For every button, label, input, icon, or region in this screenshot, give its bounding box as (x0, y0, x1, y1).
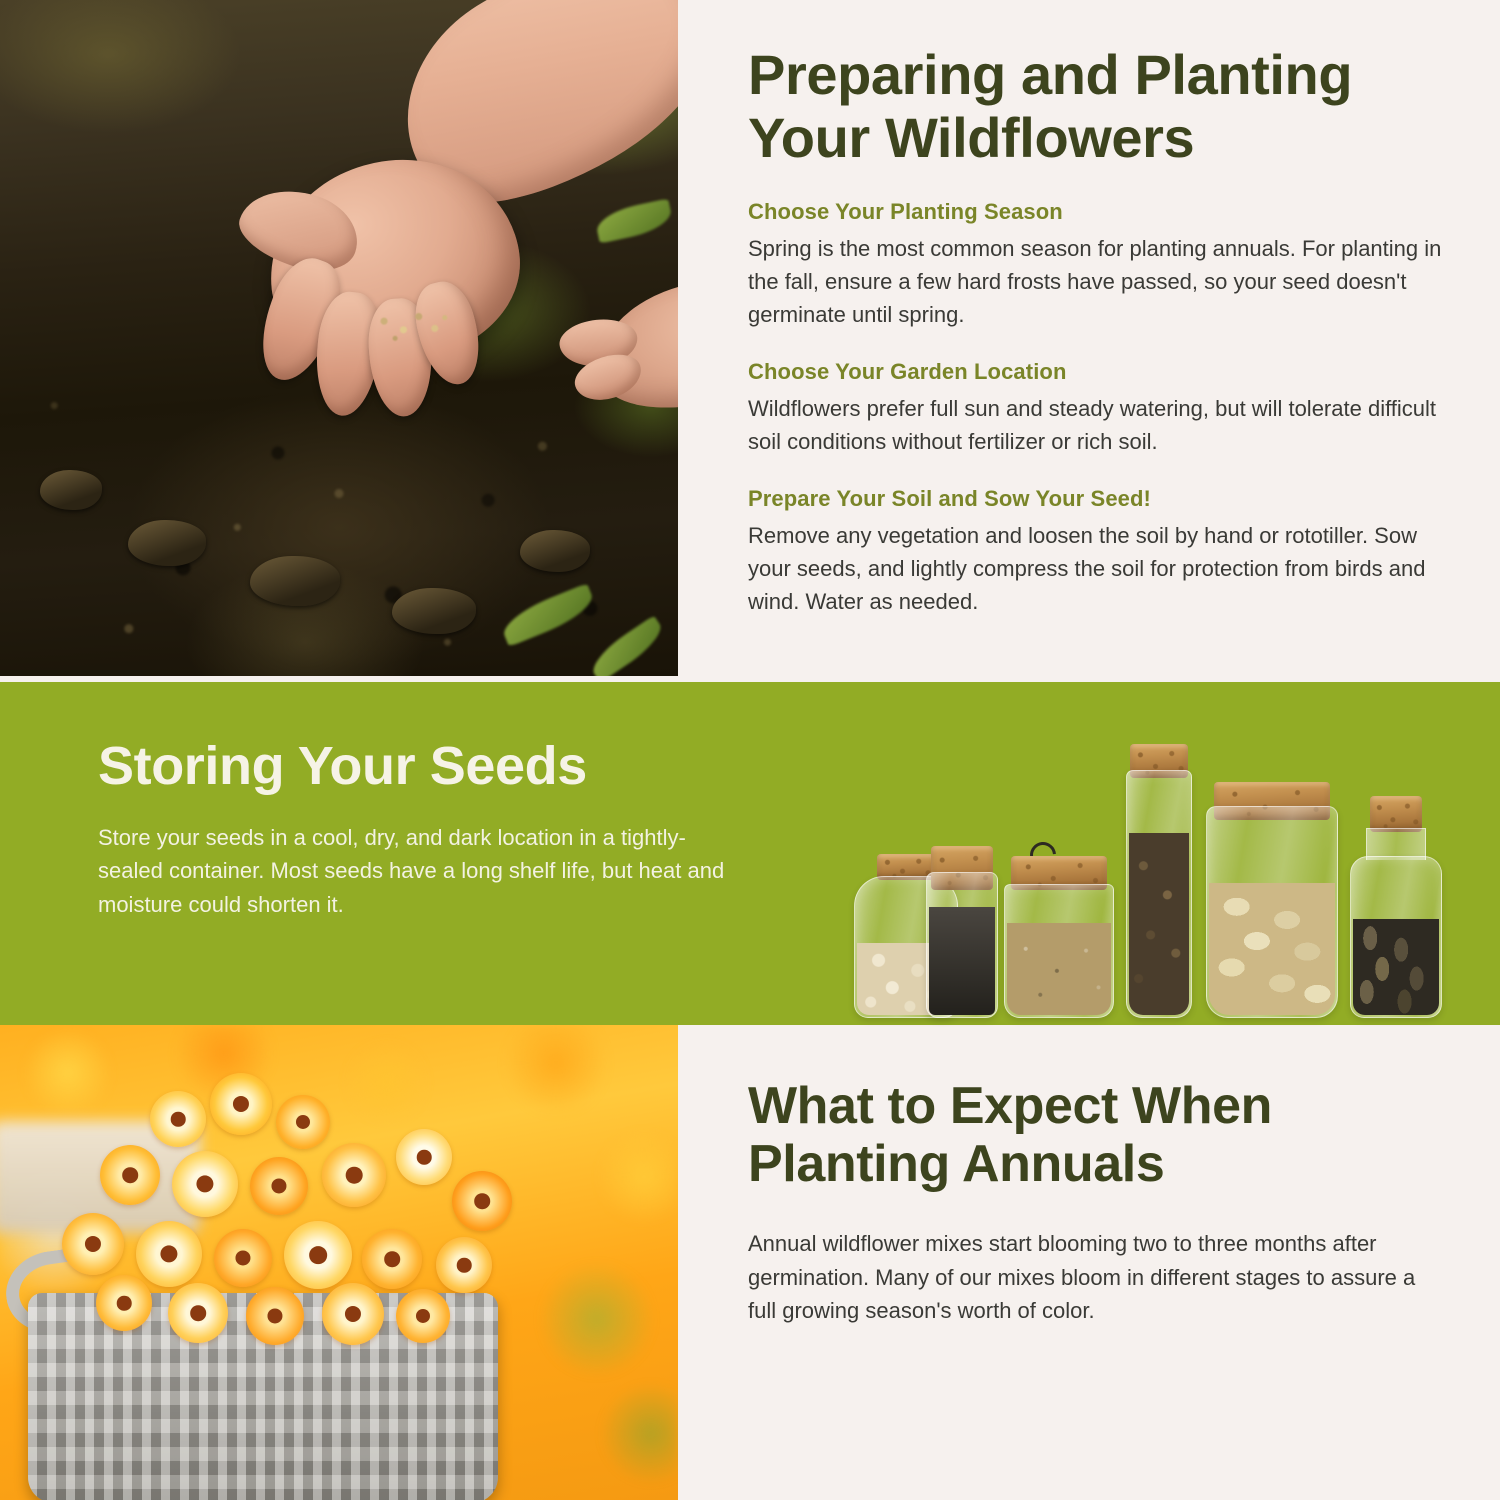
flower-bloom (96, 1275, 152, 1331)
flower-bloom (322, 1143, 386, 1207)
body-garden-location: Wildflowers prefer full sun and steady w… (748, 392, 1448, 458)
flower-bloom (136, 1221, 202, 1287)
block-planting-season: Choose Your Planting Season Spring is th… (748, 199, 1454, 331)
cork-lid (1370, 796, 1422, 832)
flower-bloom (322, 1283, 384, 1345)
flower-bloom (210, 1073, 272, 1135)
pumpkin-seed-jar (1206, 806, 1338, 1018)
black-seed-jar (926, 872, 998, 1018)
soil-clod (250, 556, 340, 606)
glass-body (1126, 770, 1192, 1018)
flower-bloom (284, 1221, 352, 1289)
calendula-basket-photo (0, 1025, 678, 1500)
sand-seed-jar (1004, 884, 1114, 1018)
flower-bloom (452, 1171, 512, 1231)
storing-body: Store your seeds in a cool, dry, and dar… (98, 821, 738, 921)
flower-bloom (362, 1229, 422, 1289)
flower-bloom (396, 1289, 450, 1343)
flower-bloom (168, 1283, 228, 1343)
hand-holding-seeds (216, 0, 616, 426)
seed-fill (1007, 923, 1111, 1015)
seed-fill (1353, 919, 1439, 1015)
section-preparing-and-planting: Preparing and Planting Your Wildflowers … (0, 0, 1500, 682)
flower-bloom (246, 1287, 304, 1345)
glass-body (1004, 884, 1114, 1018)
expect-body: Annual wildflower mixes start blooming t… (748, 1227, 1418, 1327)
flower-bloom (436, 1237, 492, 1293)
subheading-garden-location: Choose Your Garden Location (748, 359, 1454, 385)
flower-bloom (250, 1157, 308, 1215)
flower-bloom (276, 1095, 330, 1149)
storing-title: Storing Your Seeds (98, 738, 748, 795)
preparing-text-column: Preparing and Planting Your Wildflowers … (748, 0, 1500, 682)
flower-bloom (100, 1145, 160, 1205)
glass-body (926, 872, 998, 1018)
expect-text-column: What to Expect When Planting Annuals Ann… (748, 1025, 1500, 1500)
flower-bloom (396, 1129, 452, 1185)
seed-jars-photo (848, 718, 1468, 1018)
flower-bloom (172, 1151, 238, 1217)
subheading-prepare-soil: Prepare Your Soil and Sow Your Seed! (748, 486, 1454, 512)
body-planting-season: Spring is the most common season for pla… (748, 232, 1448, 331)
page-title: Preparing and Planting Your Wildflowers (748, 44, 1428, 169)
hands-sowing-seeds-photo (0, 0, 678, 676)
glass-body (1206, 806, 1338, 1018)
flower-bloom (214, 1229, 272, 1287)
tall-tube-jar (1126, 770, 1192, 1018)
glass-body (1350, 856, 1442, 1018)
seed-fill (1209, 883, 1335, 1015)
seed-fill (929, 907, 995, 1015)
body-prepare-soil: Remove any vegetation and loosen the soi… (748, 519, 1448, 618)
soil-clod (392, 588, 476, 634)
infographic-page: Preparing and Planting Your Wildflowers … (0, 0, 1500, 1500)
block-prepare-soil: Prepare Your Soil and Sow Your Seed! Rem… (748, 486, 1454, 618)
soil-clod (520, 530, 590, 572)
flower-bloom (150, 1091, 206, 1147)
subheading-planting-season: Choose Your Planting Season (748, 199, 1454, 225)
flower-bloom (62, 1213, 124, 1275)
soil-clod (40, 470, 102, 510)
expect-title: What to Expect When Planting Annuals (748, 1077, 1428, 1193)
soil-clod (128, 520, 206, 566)
block-garden-location: Choose Your Garden Location Wildflowers … (748, 359, 1454, 458)
storing-text-column: Storing Your Seeds Store your seeds in a… (98, 738, 748, 921)
seeds-in-hand (364, 294, 461, 351)
preparing-blocks-list: Choose Your Planting Season Spring is th… (748, 199, 1454, 618)
sunflower-seed-jar (1350, 828, 1442, 1018)
section-what-to-expect: What to Expect When Planting Annuals Ann… (0, 1025, 1500, 1500)
seed-fill (1129, 833, 1189, 1015)
